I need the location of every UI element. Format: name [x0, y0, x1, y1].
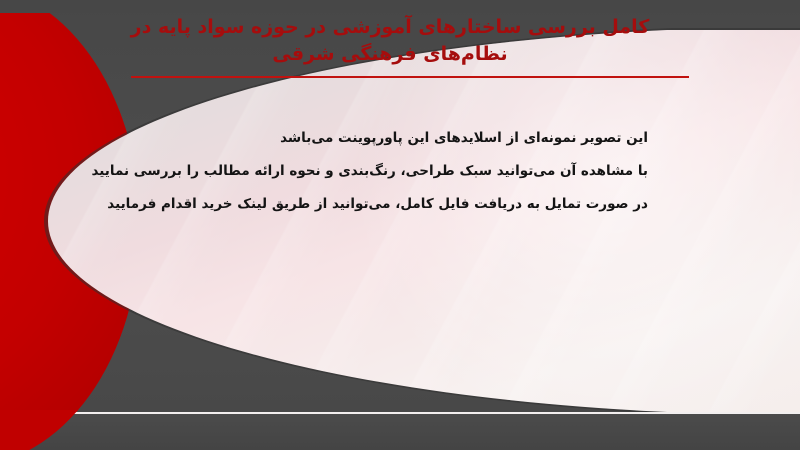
bottom-left-red-wedge-fill: [0, 410, 120, 450]
title-underline-rule: [131, 76, 689, 78]
bottom-band-highlight: [0, 412, 800, 414]
body-line-3: در صورت تمایل به دریافت فایل کامل، می‌تو…: [128, 188, 648, 221]
bottom-left-red-wedge: [0, 410, 120, 450]
top-frame-band: [0, 0, 800, 13]
title-line-1: کامل بررسی ساختارهای آموزشی در حوزه سواد…: [90, 14, 690, 41]
body-line-2: با مشاهده آن می‌توانید سبک طراحی، رنگ‌بن…: [128, 155, 648, 188]
slide-title: کامل بررسی ساختارهای آموزشی در حوزه سواد…: [90, 14, 690, 68]
bottom-frame-band: [0, 414, 800, 450]
title-line-2: نظام‌های فرهنگی شرقی: [90, 41, 690, 68]
body-line-1: این تصویر نمونه‌ای از اسلایدهای این پاور…: [128, 122, 648, 155]
slide-body-text: این تصویر نمونه‌ای از اسلایدهای این پاور…: [128, 122, 648, 222]
presentation-slide: کامل بررسی ساختارهای آموزشی در حوزه سواد…: [0, 0, 800, 450]
